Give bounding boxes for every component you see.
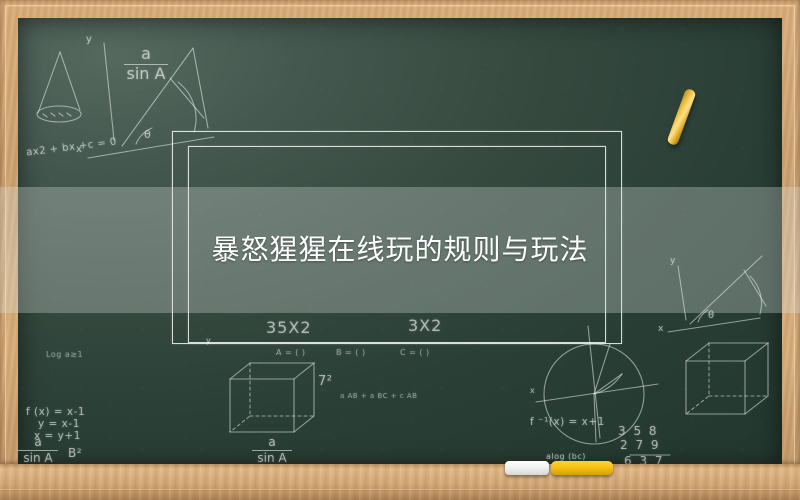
page-title: 暴怒猩猩在线玩的规则与玩法 [0, 228, 800, 268]
inverse-function-text: f ⁻¹(x) = x+1 [530, 416, 605, 428]
matrix-b-text: B = ( ) [336, 348, 366, 357]
cube-icon-right [686, 343, 768, 414]
chalkboard-screenshot: a sin A y x θ ax2 + bx +c = 0 f (x) = x-… [0, 0, 800, 500]
ledge-chalk-icon [551, 461, 613, 475]
eraser-icon [505, 461, 549, 475]
log-expression-text: alog (bc) [546, 452, 586, 461]
b-squared-text: B² [68, 446, 82, 460]
set-notation-text: a AB + a BC + c AB [340, 392, 417, 400]
chalk-stick-icon [666, 88, 696, 146]
angle-label-theta-right: θ [708, 310, 715, 321]
addition-operand-1-text: 3 5 8 [618, 424, 659, 438]
chalk-tray [0, 464, 800, 500]
function-line-2-text: y = x-1 [38, 418, 80, 430]
addition-operand-2-text: 2 7 9 [620, 438, 661, 452]
fraction-a-over-sin-a-bottom-left: a sin A [18, 436, 58, 464]
seven-squared-text: 7² [318, 374, 332, 389]
fraction-a-over-sin-a-top-left: a sin A [124, 46, 168, 83]
axis-label-x-top-left: x [76, 144, 82, 155]
cube-icon-center [230, 363, 314, 432]
axis-label-y-top-left: y [86, 34, 92, 45]
angle-label-theta-top-left: θ [144, 128, 151, 141]
function-line-1-text: f (x) = x-1 [26, 406, 85, 418]
log-label-text: Log a≥1 [46, 350, 83, 359]
cone-icon [37, 52, 81, 122]
matrix-c-text: C = ( ) [400, 348, 430, 357]
chalk-tray-lip [0, 489, 800, 491]
function-line-3-text: x = y+1 [34, 430, 81, 442]
fraction-a-over-sin-a-bottom-center: a sin A [252, 436, 292, 464]
axis-label-x-circle: x [530, 386, 535, 395]
matrix-a-text: A = ( ) [276, 348, 306, 357]
axis-label-x-right: x [658, 324, 664, 334]
quadratic-equation-text: ax2 + bx +c = 0 [26, 136, 118, 158]
